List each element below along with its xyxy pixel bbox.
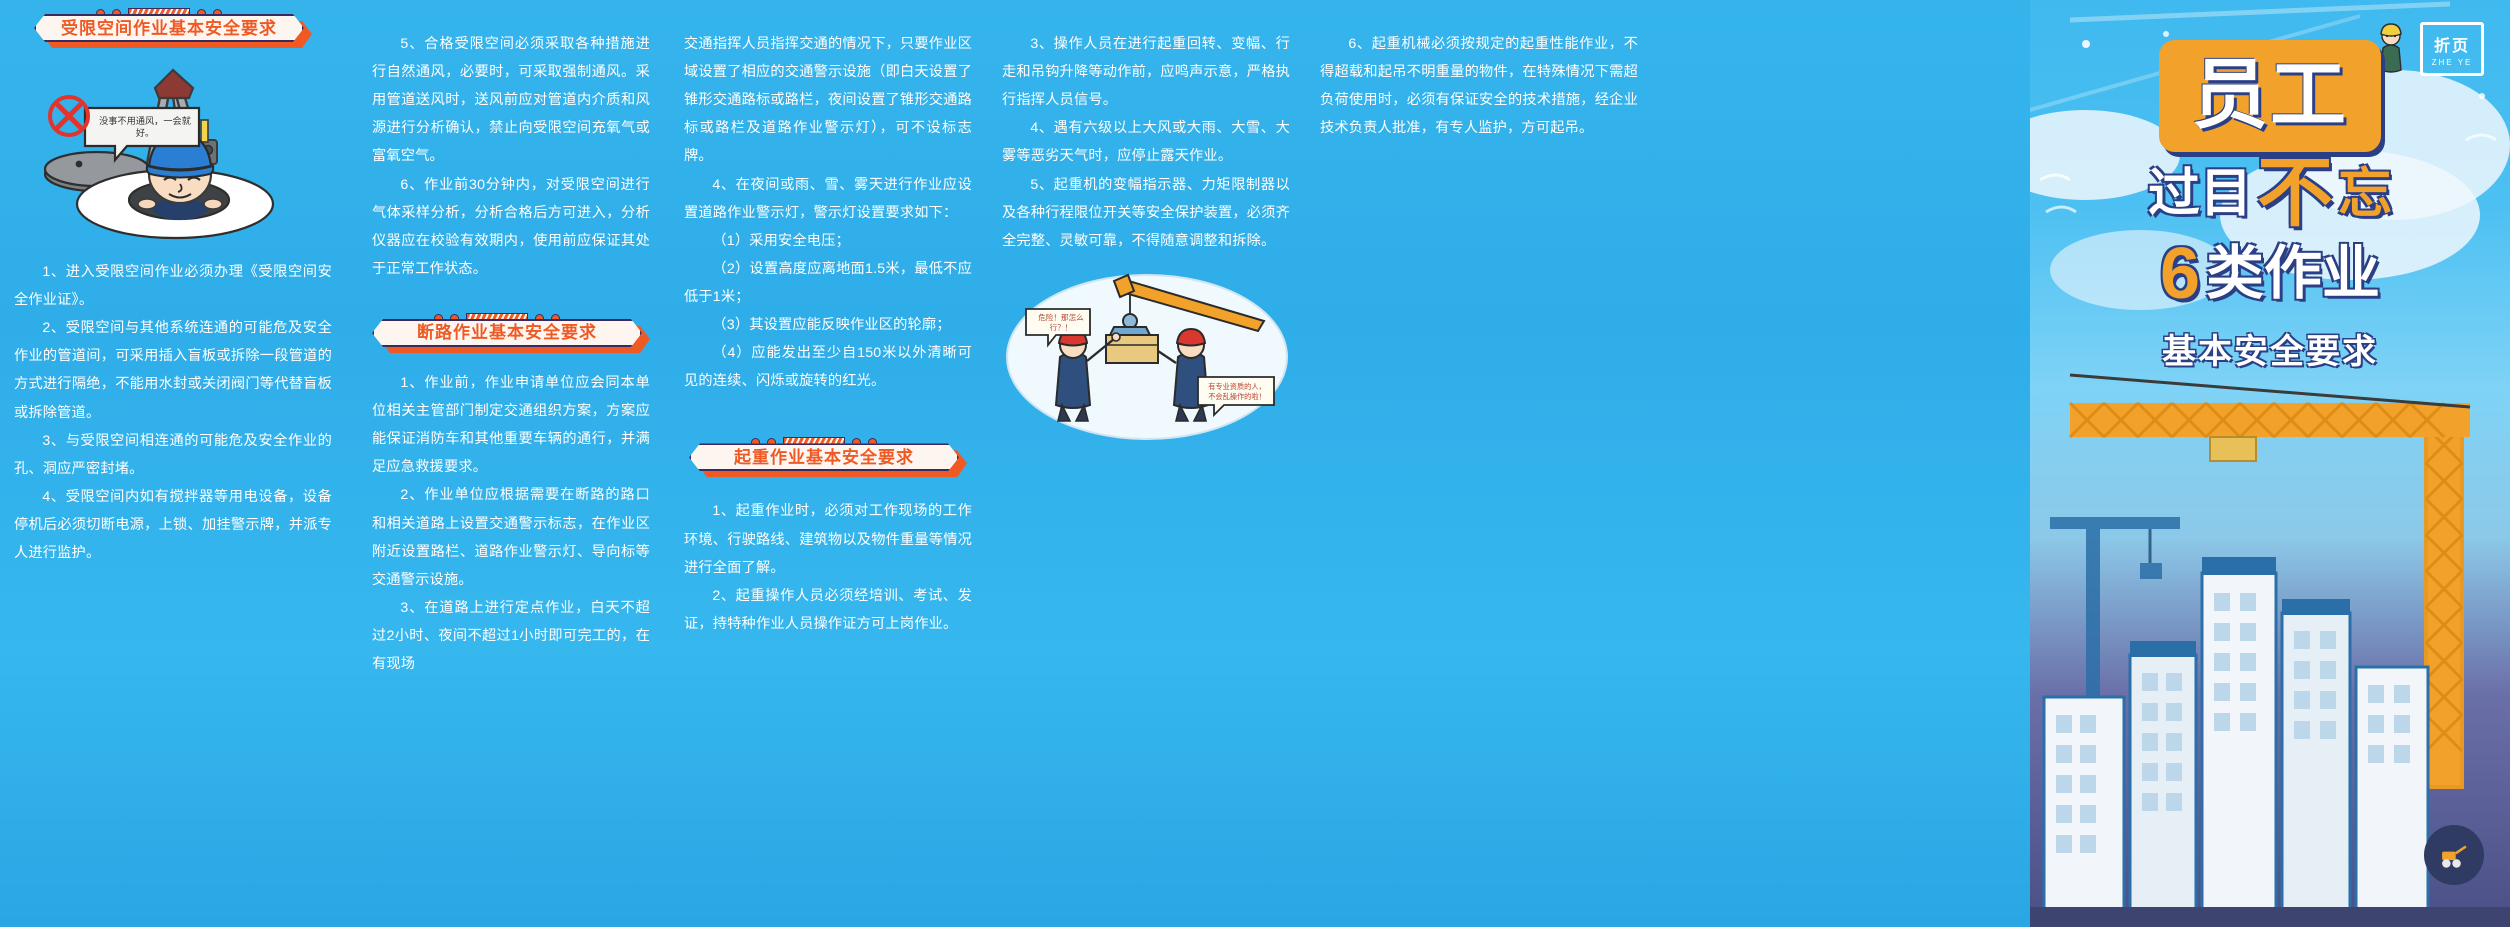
paragraph: 交通指挥人员指挥交通的情况下，只要作业区域设置了相应的交通警示设施（即白天设置了…: [684, 30, 972, 171]
section-banner-lifting: 起重作业基本安全要求: [689, 437, 967, 477]
banner-title: 断路作业基本安全要求: [417, 324, 597, 341]
crane-lifting-illustration: 危险！那怎么行？！ 有专业资质的人， 不会乱操作的啦！: [1002, 265, 1292, 440]
content-columns: 受限空间作业基本安全要求: [0, 0, 2030, 927]
paragraph: 6、起重机械必须按规定的起重性能作业，不得超载和起吊不明重量的物件，在特殊情况下…: [1320, 30, 1638, 142]
lifting-final-paragraphs: 6、起重机械必须按规定的起重性能作业，不得超载和起吊不明重量的物件，在特殊情况下…: [1320, 30, 1638, 142]
paragraph: 3、操作人员在进行起重回转、变幅、行走和吊钩升降等动作前，应鸣声示意，严格执行指…: [1002, 30, 1290, 114]
paragraph: 2、受限空间与其他系统连通的可能危及安全作业的管道间，可采用插入盲板或拆除一段管…: [14, 314, 332, 426]
column-lifting-continued: 3、操作人员在进行起重回转、变幅、行走和吊钩升降等动作前，应鸣声示意，严格执行指…: [996, 0, 1296, 927]
paragraph: （2）设置高度应离地面1.5米，最低不应低于1米；: [684, 255, 972, 311]
column-lifting-final: 6、起重机械必须按规定的起重性能作业，不得超载和起吊不明重量的物件，在特殊情况下…: [1314, 0, 1644, 927]
paragraph: 1、作业前，作业申请单位应会同本单位相关主管部门制定交通组织方案，方案应能保证消…: [372, 369, 650, 481]
paragraph: （3）其设置应能反映作业区的轮廓；: [684, 311, 972, 339]
paragraph: 3、在道路上进行定点作业，白天不超过2小时、夜间不超过1小时即可完工的，在有现场: [372, 594, 650, 678]
paragraph: 3、与受限空间相连通的可能危及安全作业的孔、洞应严密封堵。: [14, 427, 332, 483]
title-line-1: 员工: [2192, 58, 2348, 134]
column-road-closure: 5、合格受限空间必须采取各种措施进行自然通风，必要时，可采取强制通风。采用管道送…: [366, 0, 656, 927]
title-line-2: 过目 不 忘: [2050, 156, 2490, 232]
title-count: 6: [2160, 238, 2200, 310]
paragraph: 6、作业前30分钟内，对受限空间进行气体采样分析，分析合格后方可进入，分析仪器应…: [372, 171, 650, 283]
title-category: 类作业: [2206, 245, 2380, 303]
safety-poster: 受限空间作业基本安全要求: [0, 0, 2510, 927]
road-closure-continued: 交通指挥人员指挥交通的情况下，只要作业区域设置了相应的交通警示设施（即白天设置了…: [684, 30, 972, 395]
title-wang: 忘: [2338, 167, 2392, 221]
banner-title: 受限空间作业基本安全要求: [61, 20, 277, 37]
crane-scene-svg: [1002, 265, 1292, 440]
paragraph: 4、遇有六级以上大风或大雨、大雪、大雾等恶劣天气时，应停止露天作业。: [1002, 114, 1290, 170]
manhole-scene-svg: [23, 54, 323, 254]
paragraph: 4、在夜间或雨、雪、雾天进行作业应设置道路作业警示灯，警示灯设置要求如下：: [684, 171, 972, 227]
paragraph: 1、进入受限空间作业必须办理《受限空间安全作业证》。: [14, 258, 332, 314]
manhole-worker-illustration: 没事不用通风，一会就好。: [23, 54, 323, 254]
section-banner-confined-space: 受限空间作业基本安全要求: [34, 8, 312, 48]
banner-plate: 受限空间作业基本安全要求: [34, 14, 304, 42]
paragraph: 5、合格受限空间必须采取各种措施进行自然通风，必要时，可采取强制通风。采用管道送…: [372, 30, 650, 171]
crane-bubble-right-text: 有专业资质的人， 不会乱操作的啦！: [1202, 382, 1272, 401]
excavator-icon: [2424, 825, 2484, 885]
hero-subtitle: 基本安全要求: [2110, 324, 2430, 373]
paragraph: 1、起重作业时，必须对工作现场的工作环境、行驶路线、建筑物以及物件重量等情况进行…: [684, 497, 972, 581]
confined-space-continued: 5、合格受限空间必须采取各种措施进行自然通风，必要时，可采取强制通风。采用管道送…: [372, 30, 650, 283]
title-line-3: 6 类作业: [2050, 238, 2490, 310]
crane-bubble-left-text: 危险！那怎么行？！: [1030, 313, 1092, 334]
lifting-continued-paragraphs: 3、操作人员在进行起重回转、变幅、行走和吊钩升降等动作前，应鸣声示意，严格执行指…: [1002, 30, 1290, 255]
confined-space-paragraphs: 1、进入受限空间作业必须办理《受限空间安全作业证》。 2、受限空间与其他系统连通…: [14, 258, 332, 567]
paragraph: （4）应能发出至少自150米以外清晰可见的连续、闪烁或旋转的红光。: [684, 339, 972, 395]
banner-plate: 断路作业基本安全要求: [372, 319, 642, 347]
banner-title: 起重作业基本安全要求: [734, 449, 914, 466]
road-closure-paragraphs: 1、作业前，作业申请单位应会同本单位相关主管部门制定交通组织方案，方案应能保证消…: [372, 369, 650, 678]
paragraph: 5、起重机的变幅指示器、力矩限制器以及各种行程限位开关等安全保护装置，必须齐全完…: [1002, 171, 1290, 255]
paragraph: （1）采用安全电压；: [684, 227, 972, 255]
speech-bubble-text: 没事不用通风，一会就好。: [93, 116, 197, 140]
title-guomu: 过目: [2148, 168, 2252, 220]
lifting-paragraphs: 1、起重作业时，必须对工作现场的工作环境、行驶路线、建筑物以及物件重量等情况进行…: [684, 497, 972, 638]
title-line-1-box: 员工: [2159, 40, 2381, 152]
section-banner-road-closure: 断路作业基本安全要求: [372, 313, 650, 353]
paragraph: 2、作业单位应根据需要在断路的路口和相关道路上设置交通警示标志，在作业区附近设置…: [372, 481, 650, 593]
hero-title-panel: 折页 ZHE YE 员工 过目 不 忘 6 类作业 基本安全要: [2030, 0, 2510, 927]
paragraph: 4、受限空间内如有搅拌器等用电设备，设备停机后必须切断电源，上锁、加挂警示牌，并…: [14, 483, 332, 567]
title-bu: 不: [2257, 156, 2333, 232]
banner-plate: 起重作业基本安全要求: [689, 443, 959, 471]
column-confined-space: 受限空间作业基本安全要求: [8, 0, 338, 927]
paragraph: 2、起重操作人员必须经培训、考试、发证，持特种作业人员操作证方可上岗作业。: [684, 582, 972, 638]
excavator-glyph: [2437, 838, 2471, 872]
column-lifting: 交通指挥人员指挥交通的情况下，只要作业区域设置了相应的交通警示设施（即白天设置了…: [678, 0, 978, 927]
hero-title-block: 员工 过目 不 忘 6 类作业 基本安全要求: [2030, 40, 2510, 373]
